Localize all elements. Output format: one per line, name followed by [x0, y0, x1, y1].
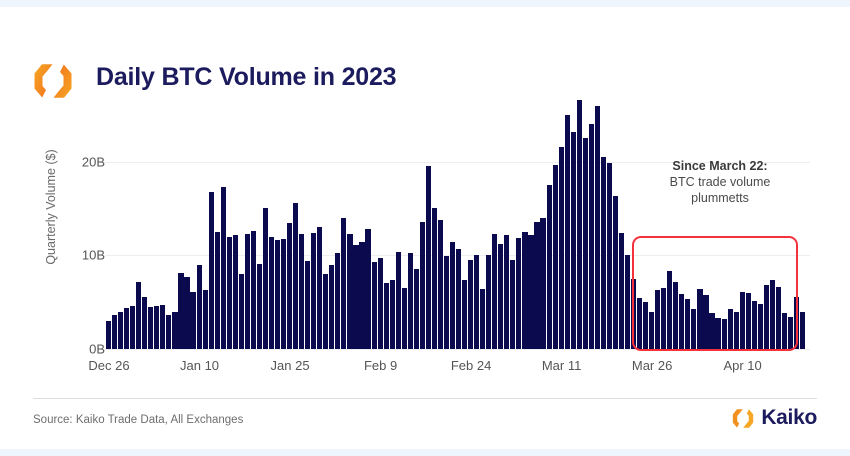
x-tick-label: Apr 10: [723, 358, 761, 373]
bar: [510, 260, 515, 349]
bar: [136, 282, 141, 349]
bar: [534, 222, 539, 349]
bar: [625, 255, 630, 349]
bar: [522, 232, 527, 349]
footer-divider: [33, 398, 817, 399]
bar: [402, 288, 407, 349]
footer-brand-name: Kaiko: [761, 406, 817, 430]
bar: [474, 255, 479, 349]
bar: [172, 312, 177, 349]
bar: [227, 237, 232, 349]
annotation-line-2: BTC trade volume: [645, 174, 795, 190]
bar: [190, 292, 195, 349]
bar: [486, 255, 491, 349]
bar: [221, 187, 226, 349]
bar: [480, 289, 485, 349]
x-tick-label: Mar 11: [542, 358, 582, 373]
bar: [166, 315, 171, 349]
highlight-region-box: [632, 236, 798, 351]
bar: [118, 312, 123, 349]
x-tick-label: Feb 24: [451, 358, 491, 373]
bar: [504, 235, 509, 349]
bar: [547, 185, 552, 349]
bar: [365, 229, 370, 349]
bar: [275, 240, 280, 349]
bar: [148, 307, 153, 349]
bar: [619, 233, 624, 349]
bar: [257, 264, 262, 349]
bar: [112, 315, 117, 349]
bar: [215, 232, 220, 349]
bar: [426, 166, 431, 349]
bar: [408, 253, 413, 350]
bar: [444, 256, 449, 349]
bar: [577, 100, 582, 349]
bar: [528, 235, 533, 349]
bar: [468, 260, 473, 349]
bar: [347, 234, 352, 349]
x-tick-label: Dec 26: [88, 358, 129, 373]
bar: [299, 234, 304, 349]
bar: [323, 274, 328, 349]
bar: [601, 157, 606, 349]
chart-annotation: Since March 22: BTC trade volume plummet…: [645, 158, 795, 206]
bar: [329, 265, 334, 349]
bar: [540, 218, 545, 349]
bar: [384, 283, 389, 349]
bar: [317, 227, 322, 349]
bar: [239, 274, 244, 349]
bar: [462, 280, 467, 349]
bar: [233, 235, 238, 349]
bar: [571, 132, 576, 349]
bar: [142, 297, 147, 349]
bar: [613, 196, 618, 349]
y-tick-label: 10B: [49, 248, 105, 263]
bar: [432, 208, 437, 349]
bar: [269, 237, 274, 349]
x-tick-label: Jan 10: [180, 358, 219, 373]
bar: [565, 115, 570, 349]
bar: [589, 124, 594, 349]
bar: [184, 277, 189, 349]
bar: [160, 305, 165, 349]
bar: [293, 203, 298, 349]
x-tick-label: Feb 9: [364, 358, 397, 373]
y-tick-label: 20B: [49, 154, 105, 169]
bar: [595, 106, 600, 349]
bar: [197, 265, 202, 349]
bar: [396, 252, 401, 349]
annotation-line-1: Since March 22:: [645, 158, 795, 174]
bar: [372, 262, 377, 349]
bar: [516, 238, 521, 349]
bar: [281, 239, 286, 349]
bar: [311, 233, 316, 349]
chart-canvas: Quarterly Volume ($) 0B10B20B Dec 26Jan …: [0, 0, 850, 456]
x-tick-label: Mar 26: [632, 358, 672, 373]
y-axis-ticks: 0B10B20B: [30, 0, 105, 456]
source-note: Source: Kaiko Trade Data, All Exchanges: [33, 414, 243, 426]
annotation-line-3: plummetts: [645, 190, 795, 206]
y-tick-label: 0B: [49, 342, 105, 357]
bar: [341, 218, 346, 349]
bar: [456, 249, 461, 349]
bar: [359, 242, 364, 349]
bar: [209, 192, 214, 349]
bar: [154, 306, 159, 349]
bar: [251, 231, 256, 349]
footer-brand-logo: Kaiko: [732, 406, 817, 430]
bar: [583, 138, 588, 349]
bar: [553, 165, 558, 349]
bar: [420, 222, 425, 349]
bar: [203, 290, 208, 349]
bar: [498, 244, 503, 349]
bar: [450, 242, 455, 349]
bar: [390, 280, 395, 349]
bar: [106, 321, 111, 349]
bar: [438, 220, 443, 349]
bar: [263, 208, 268, 349]
bar: [800, 312, 805, 349]
bar: [353, 245, 358, 349]
bar: [178, 273, 183, 349]
bar: [124, 308, 129, 349]
bar: [245, 234, 250, 349]
bar: [378, 258, 383, 349]
bar: [305, 261, 310, 349]
bar: [335, 253, 340, 349]
bar: [559, 147, 564, 349]
bar: [287, 223, 292, 350]
bar: [492, 234, 497, 349]
x-tick-label: Jan 25: [271, 358, 310, 373]
kaiko-hexagon-logo-icon-small: [732, 408, 754, 429]
bar: [607, 163, 612, 349]
bar: [414, 269, 419, 349]
bar: [130, 306, 135, 349]
chart-page: Daily BTC Volume in 2023 Quarterly Volum…: [0, 0, 850, 456]
